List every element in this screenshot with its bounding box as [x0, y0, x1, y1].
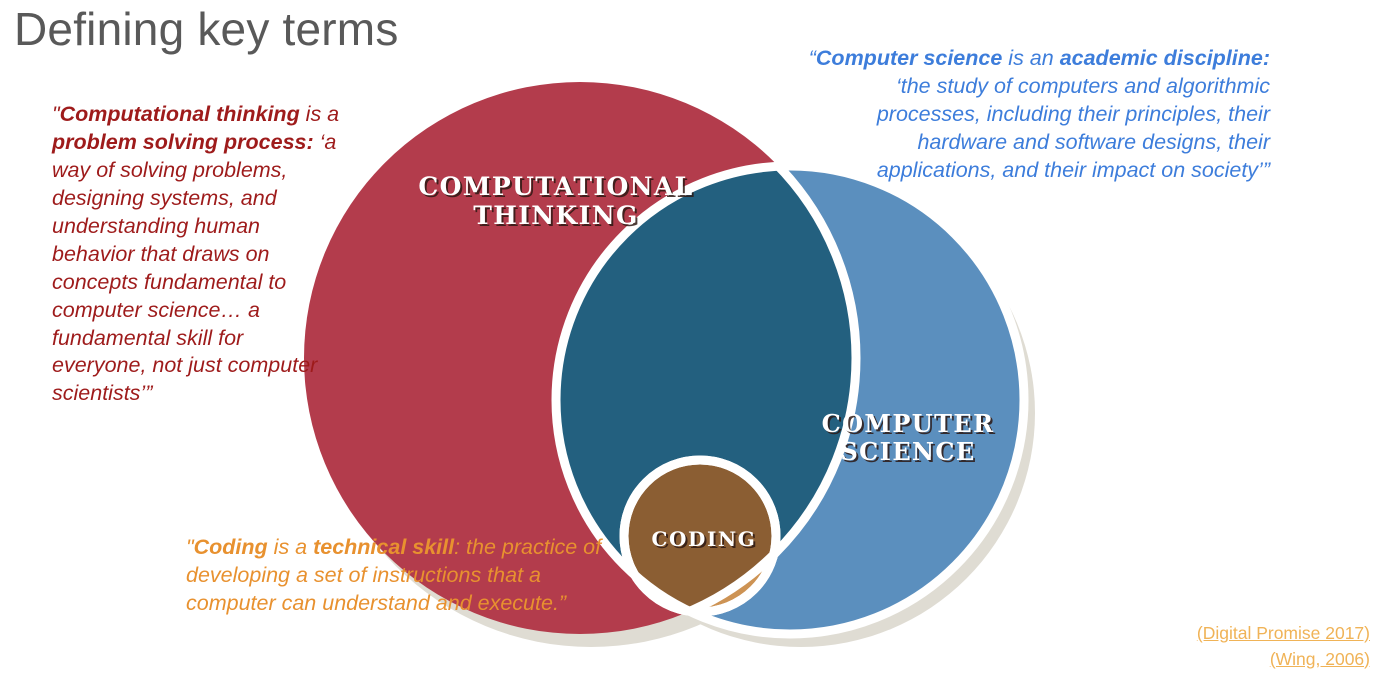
- quote-computer-science: “Computer science is an academic discipl…: [808, 45, 1270, 185]
- slide-canvas: Defining key terms: [0, 0, 1384, 676]
- quote-cs-mid: is an: [1002, 46, 1059, 70]
- quote-ct-mid: is a: [300, 102, 339, 126]
- citation-link-wing[interactable]: (Wing, 2006): [1197, 647, 1370, 672]
- quote-coding-mid: is a: [268, 535, 313, 559]
- quote-computational-thinking: "Computational thinking is a problem sol…: [52, 101, 342, 408]
- quote-cs-open: “: [809, 46, 816, 70]
- quote-cs-term: Computer science: [816, 46, 1002, 70]
- venn-label-computational-thinking: COMPUTATIONAL THINKING: [396, 172, 716, 230]
- quote-coding-category: technical skill: [313, 535, 454, 559]
- citation-link-digital-promise[interactable]: (Digital Promise 2017): [1197, 621, 1370, 646]
- quote-ct-term: Computational thinking: [60, 102, 300, 126]
- venn-label-coding: CODING: [614, 528, 794, 551]
- citation-list: (Digital Promise 2017) (Wing, 2006): [1197, 621, 1370, 672]
- quote-ct-body: ‘a way of solving problems, designing sy…: [52, 130, 336, 405]
- quote-coding: "Coding is a technical skill: the practi…: [186, 534, 606, 618]
- quote-coding-open: ": [186, 535, 194, 559]
- quote-ct-open: ": [52, 102, 60, 126]
- quote-ct-category: problem solving process:: [52, 130, 314, 154]
- quote-cs-category: academic discipline:: [1060, 46, 1270, 70]
- venn-label-computer-science: COMPUTER SCIENCE: [788, 410, 1028, 466]
- quote-cs-body: ‘the study of computers and algorithmic …: [877, 74, 1270, 182]
- quote-coding-term: Coding: [194, 535, 268, 559]
